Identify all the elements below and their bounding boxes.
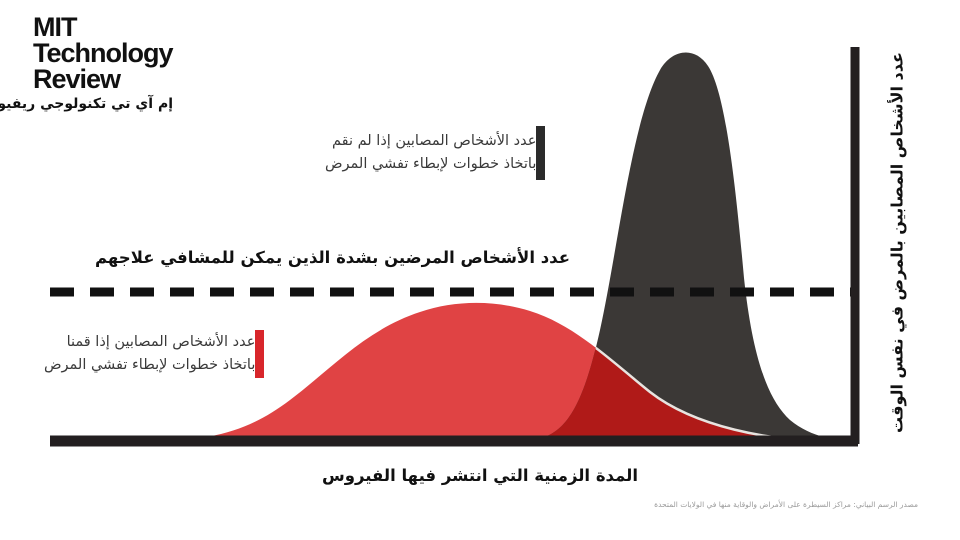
annotation-marker-red (255, 330, 264, 378)
annotation-unmitigated-text: عدد الأشخاص المصابين إذا لم نقم باتخاذ خ… (325, 130, 536, 176)
annotation-mitigated-text: عدد الأشخاص المصابين إذا قمنا باتخاذ خطو… (44, 331, 255, 377)
infographic-canvas: MIT Technology Review إم آي تي تكنولوجي … (0, 0, 960, 540)
annotation-mitigated: عدد الأشخاص المصابين إذا قمنا باتخاذ خطو… (44, 330, 278, 378)
x-axis-title: المدة الزمنية التي انتشر فيها الفيروس (180, 466, 780, 485)
annotation-unmitigated: عدد الأشخاص المصابين إذا لم نقم باتخاذ خ… (325, 126, 559, 180)
y-axis-title: عدد الأشخاص المصابين بالمرض في نفس الوقت (888, 43, 907, 443)
source-note: مصدر الرسم البياني: مراكز السيطرة على ال… (654, 500, 918, 509)
annotation-unmitigated-line2: باتخاذ خطوات لإبطاء تفشي المرض (325, 153, 536, 176)
annotation-unmitigated-line1: عدد الأشخاص المصابين إذا لم نقم (325, 130, 536, 153)
hospital-capacity-label: عدد الأشخاص المرضين بشدة الذين يمكن للمش… (60, 248, 570, 267)
annotation-mitigated-line1: عدد الأشخاص المصابين إذا قمنا (44, 331, 255, 354)
annotation-marker-dark (536, 126, 545, 180)
epidemic-curve-chart (0, 0, 960, 540)
annotation-mitigated-line2: باتخاذ خطوات لإبطاء تفشي المرض (44, 354, 255, 377)
